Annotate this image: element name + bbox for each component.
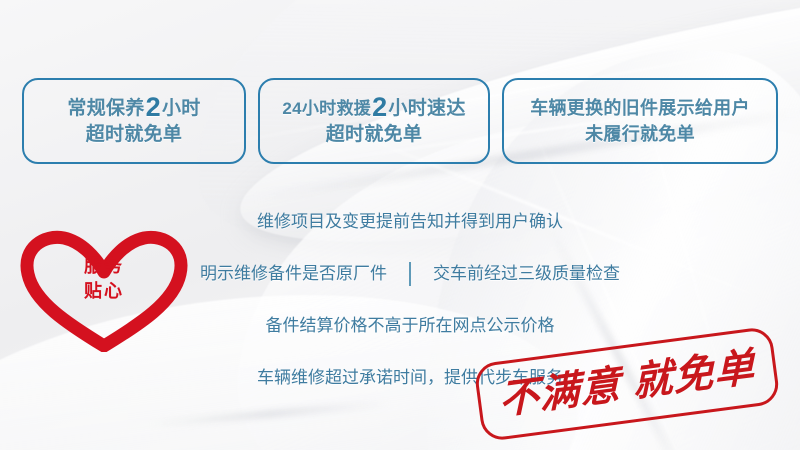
heart-badge-text: 服务 贴心: [16, 254, 192, 304]
promise-row-3: 备件结算价格不高于所在网点公示价格: [175, 300, 645, 352]
pill-3-line-2: 未履行就免单: [585, 121, 695, 147]
pill-2-number: 2: [371, 92, 388, 122]
service-heart-badge: 服务 贴心: [16, 228, 192, 352]
pill-1-suffix: 小时: [162, 98, 201, 119]
pill-1-line-1: 常规保养2小时: [67, 94, 200, 122]
pill-24h-rescue[interactable]: 24小时救援2小时速达 超时就免单: [258, 78, 490, 164]
pill-2-prefix: 24小时救援: [282, 99, 371, 118]
pill-3-line-1: 车辆更换的旧件展示给用户: [530, 95, 750, 121]
pill-regular-maintenance[interactable]: 常规保养2小时 超时就免单: [22, 78, 246, 164]
promise-item-3: 交车前经过三级质量检查: [433, 263, 620, 285]
stamp-text-part-1: 不满意: [498, 362, 621, 424]
pill-1-prefix: 常规保养: [67, 98, 144, 119]
promise-poster: 常规保养2小时 超时就免单 24小时救援2小时速达 超时就免单 车辆更换的旧件展…: [0, 0, 800, 450]
heart-badge-line-1: 服务: [16, 254, 192, 279]
pill-2-line-1: 24小时救援2小时速达: [282, 94, 465, 122]
promise-item-4: 备件结算价格不高于所在网点公示价格: [266, 315, 555, 337]
promise-pill-row: 常规保养2小时 超时就免单 24小时救援2小时速达 超时就免单 车辆更换的旧件展…: [0, 78, 800, 164]
promise-item-2: 明示维修备件是否原厂件: [200, 263, 387, 285]
pill-2-suffix: 小时速达: [388, 98, 465, 119]
pill-1-number: 2: [145, 92, 162, 122]
heart-badge-line-2: 贴心: [16, 279, 192, 304]
promise-row-2: 明示维修备件是否原厂件 交车前经过三级质量检查: [175, 248, 645, 300]
pill-2-line-2: 超时就免单: [326, 122, 423, 148]
stamp-text-part-2: 就免单: [632, 344, 755, 406]
pill-1-line-2: 超时就免单: [86, 122, 183, 148]
promise-item-1: 维修项目及变更提前告知并得到用户确认: [257, 211, 563, 233]
promise-divider: [409, 262, 411, 286]
promise-row-1: 维修项目及变更提前告知并得到用户确认: [175, 196, 645, 248]
pill-old-parts-display[interactable]: 车辆更换的旧件展示给用户 未履行就免单: [502, 78, 778, 164]
